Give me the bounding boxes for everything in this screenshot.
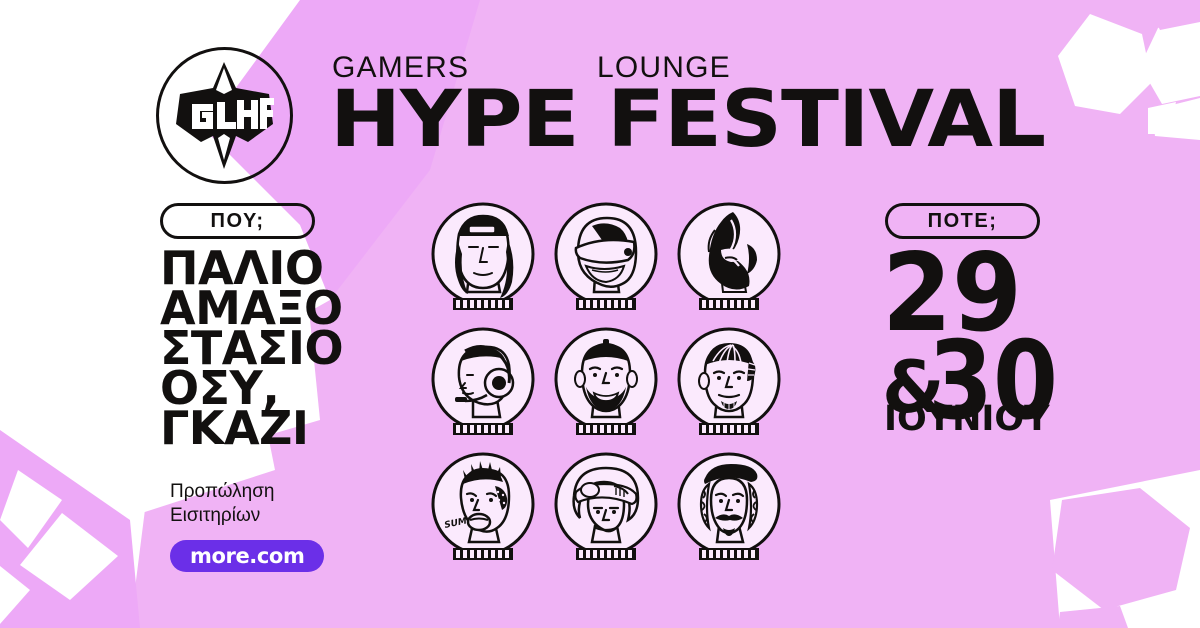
more-com-badge[interactable]: more.com <box>170 540 324 572</box>
kicker-gamers: GAMERS <box>332 48 469 88</box>
title-hype-festival: HYPE FESTIVAL <box>330 84 1060 158</box>
poster-canvas: GAMERS LOUNGE HYPE FESTIVAL ΠΟΥ; ΠΑΛΙΟ Α… <box>0 0 1200 628</box>
avatar-goggles-helmet[interactable] <box>545 447 668 572</box>
headline-kickers: GAMERS LOUNGE <box>332 48 1052 88</box>
svg-text:HYPE FESTIVAL: HYPE FESTIVAL <box>330 84 1045 158</box>
glhf-logo[interactable] <box>156 47 293 184</box>
avatar-backwards-cap-long-hair[interactable] <box>422 197 545 322</box>
avatar-bandana[interactable] <box>667 322 790 447</box>
avatar-headset-profile[interactable] <box>422 322 545 447</box>
kicker-lounge: LOUNGE <box>597 48 731 88</box>
venue-block: ΠΑΛΙΟ ΑΜΑΞΟ ΣΤΑΣΙΟ ΟΣΥ, ΓΚΑΖΙ <box>160 248 375 448</box>
logo-rocket-icon <box>174 62 275 169</box>
pill-when[interactable]: ΠΟΤΕ; <box>885 203 1040 239</box>
date-month: ΙΟΥΝΙΟΥ <box>884 400 1050 438</box>
avatar-mohawk-shouting[interactable]: SUM <box>422 447 545 572</box>
avatar-grid: SUM <box>422 197 790 572</box>
avatar-beret-moustache[interactable] <box>667 447 790 572</box>
venue-line-5: ΓΚΑΖΙ <box>160 408 375 448</box>
avatar-racing-helmet[interactable] <box>545 197 668 322</box>
pill-where[interactable]: ΠΟΥ; <box>160 203 315 239</box>
avatar-bearded-cap[interactable] <box>545 322 668 447</box>
presale-line-2: Εισιτηρίων <box>170 504 400 528</box>
presale-block: Προπώληση Εισιτηρίων more.com <box>170 480 400 572</box>
presale-line-1: Προπώληση <box>170 480 400 504</box>
page-title: HYPE FESTIVAL <box>330 84 1060 158</box>
avatar-fantasy-horned-helm[interactable] <box>667 197 790 322</box>
